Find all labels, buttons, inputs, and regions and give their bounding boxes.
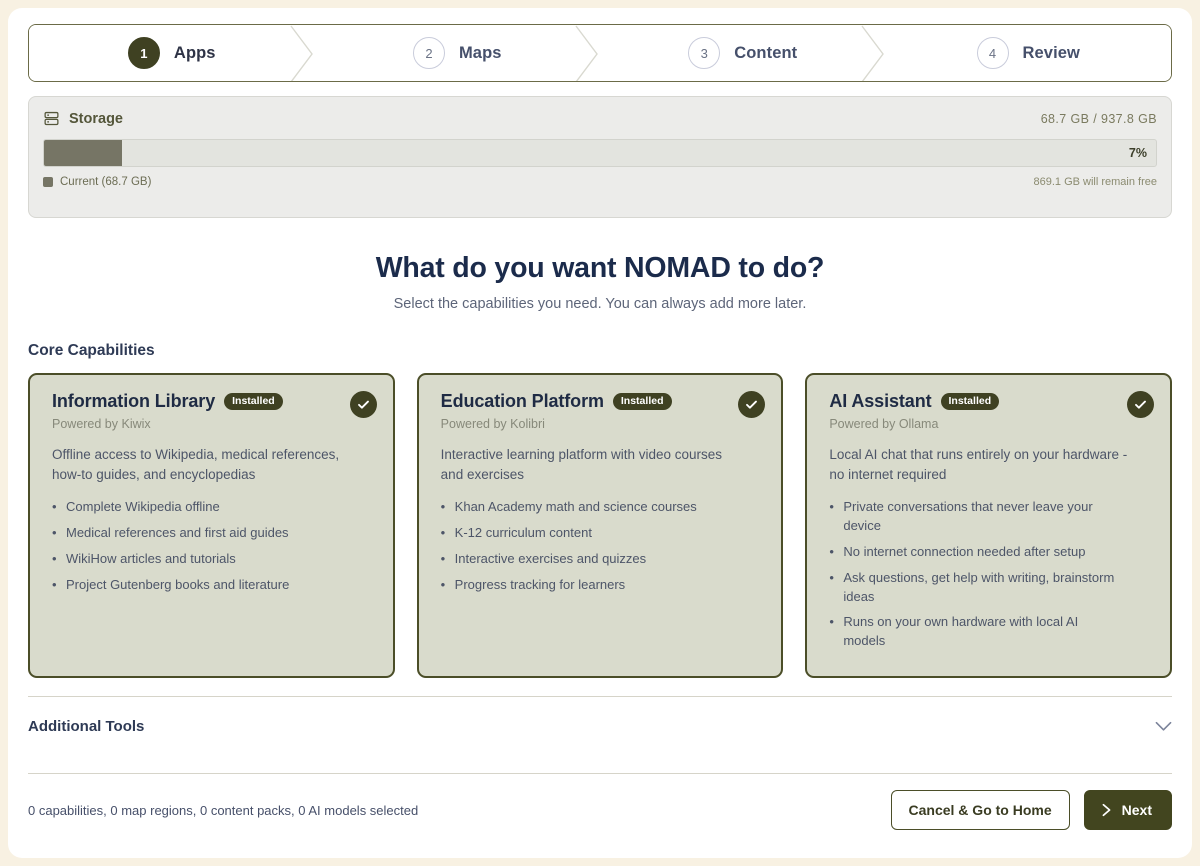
storage-title: Storage — [69, 111, 123, 127]
footer-actions: Cancel & Go to Home Next — [891, 790, 1173, 830]
step-number-2: 2 — [413, 37, 445, 69]
step-separator-chevron-icon — [861, 25, 887, 82]
storage-legend: Current (68.7 GB) 869.1 GB will remain f… — [43, 176, 1157, 188]
capability-card-education-platform[interactable]: Education Platform Installed Powered by … — [417, 373, 784, 678]
capability-cards: Information Library Installed Powered by… — [28, 373, 1172, 678]
list-item: No internet connection needed after setu… — [829, 543, 1117, 562]
chevron-down-icon[interactable] — [1155, 721, 1172, 732]
step-number-4: 4 — [977, 37, 1009, 69]
storage-legend-current: Current (68.7 GB) — [43, 176, 151, 188]
card-header: Education Platform Installed — [441, 391, 764, 412]
selection-status-text: 0 capabilities, 0 map regions, 0 content… — [28, 803, 418, 818]
step-number-3: 3 — [688, 37, 720, 69]
additional-tools-section[interactable]: Additional Tools — [28, 697, 1172, 755]
next-button[interactable]: Next — [1084, 790, 1172, 830]
storage-progress-bar: 7% — [43, 139, 1157, 167]
step-label-4: Review — [1023, 44, 1080, 63]
storage-amount: 68.7 GB / 937.8 GB — [1041, 112, 1157, 126]
list-item: Project Gutenberg books and literature — [52, 576, 340, 595]
storage-header: Storage 68.7 GB / 937.8 GB — [43, 110, 1157, 127]
server-icon — [43, 110, 60, 127]
list-item: K-12 curriculum content — [441, 524, 729, 543]
step-label-2: Maps — [459, 44, 502, 63]
list-item: Ask questions, get help with writing, br… — [829, 569, 1117, 607]
chevron-right-icon — [1100, 803, 1113, 817]
list-item: Khan Academy math and science courses — [441, 498, 729, 517]
section-title-core-capabilities: Core Capabilities — [28, 342, 1172, 360]
card-description: Offline access to Wikipedia, medical ref… — [52, 445, 352, 484]
next-button-label: Next — [1122, 802, 1152, 818]
card-feature-list: Khan Academy math and science courses K-… — [441, 498, 764, 594]
card-title: AI Assistant — [829, 391, 931, 412]
check-icon — [356, 397, 371, 412]
status-badge: Installed — [941, 393, 1000, 411]
list-item: Medical references and first aid guides — [52, 524, 340, 543]
status-badge: Installed — [613, 393, 672, 411]
list-item: Interactive exercises and quizzes — [441, 550, 729, 569]
card-description: Interactive learning platform with video… — [441, 445, 741, 484]
step-separator-chevron-icon — [290, 25, 316, 82]
storage-legend-label: Current (68.7 GB) — [60, 176, 151, 188]
footer-bar: 0 capabilities, 0 map regions, 0 content… — [28, 774, 1172, 846]
card-header: Information Library Installed — [52, 391, 375, 412]
additional-tools-label: Additional Tools — [28, 718, 144, 735]
step-tab-maps[interactable]: 2 Maps — [315, 25, 601, 81]
list-item: Progress tracking for learners — [441, 576, 729, 595]
status-badge: Installed — [224, 393, 283, 411]
selected-check-icon[interactable] — [350, 391, 377, 418]
step-number-1: 1 — [128, 37, 160, 69]
storage-progress-percent: 7% — [1129, 140, 1147, 166]
step-label-1: Apps — [174, 44, 216, 63]
legend-swatch-icon — [43, 177, 53, 187]
card-powered-by: Powered by Ollama — [829, 417, 1152, 431]
storage-panel: Storage 68.7 GB / 937.8 GB 7% Current (6… — [28, 96, 1172, 218]
app-window: 1 Apps 2 Maps 3 Content 4 Review — [8, 8, 1192, 858]
card-title: Information Library — [52, 391, 215, 412]
list-item: Complete Wikipedia offline — [52, 498, 340, 517]
check-icon — [744, 397, 759, 412]
card-header: AI Assistant Installed — [829, 391, 1152, 412]
check-icon — [1133, 397, 1148, 412]
page-subtitle: Select the capabilities you need. You ca… — [28, 296, 1172, 312]
step-tab-review[interactable]: 4 Review — [886, 25, 1172, 81]
card-title: Education Platform — [441, 391, 604, 412]
page-title: What do you want NOMAD to do? — [28, 252, 1172, 285]
storage-remaining-label: 869.1 GB will remain free — [1034, 176, 1158, 188]
list-item: WikiHow articles and tutorials — [52, 550, 340, 569]
card-feature-list: Private conversations that never leave y… — [829, 498, 1152, 651]
list-item: Private conversations that never leave y… — [829, 498, 1117, 536]
card-description: Local AI chat that runs entirely on your… — [829, 445, 1129, 484]
capability-card-information-library[interactable]: Information Library Installed Powered by… — [28, 373, 395, 678]
step-label-3: Content — [734, 44, 797, 63]
storage-progress-fill — [44, 140, 122, 166]
storage-title-group: Storage — [43, 110, 123, 127]
capability-card-ai-assistant[interactable]: AI Assistant Installed Powered by Ollama… — [805, 373, 1172, 678]
selected-check-icon[interactable] — [1127, 391, 1154, 418]
step-separator-chevron-icon — [575, 25, 601, 82]
step-tab-apps[interactable]: 1 Apps — [29, 25, 315, 81]
card-powered-by: Powered by Kiwix — [52, 417, 375, 431]
card-feature-list: Complete Wikipedia offline Medical refer… — [52, 498, 375, 594]
cancel-and-go-home-button[interactable]: Cancel & Go to Home — [891, 790, 1070, 830]
selected-check-icon[interactable] — [738, 391, 765, 418]
list-item: Runs on your own hardware with local AI … — [829, 613, 1117, 651]
step-tab-content[interactable]: 3 Content — [600, 25, 886, 81]
wizard-stepper: 1 Apps 2 Maps 3 Content 4 Review — [28, 24, 1172, 82]
card-powered-by: Powered by Kolibri — [441, 417, 764, 431]
